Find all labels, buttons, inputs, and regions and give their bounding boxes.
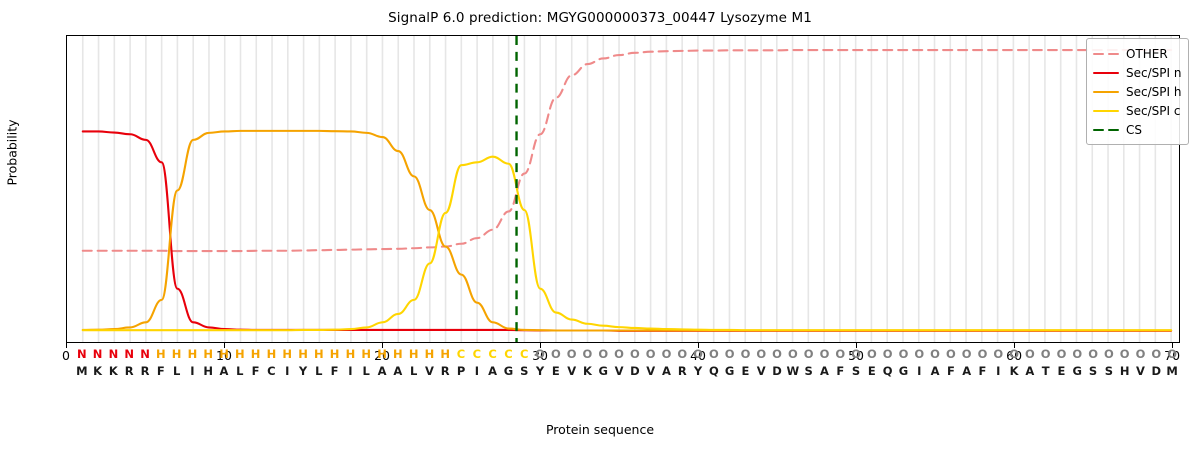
legend-swatch: [1093, 124, 1119, 136]
series-sec-spi-c: [83, 157, 1171, 330]
legend-label: Sec/SPI c: [1126, 104, 1180, 118]
legend-label: Sec/SPI h: [1126, 85, 1181, 99]
legend-label: Sec/SPI n: [1126, 66, 1181, 80]
legend-item: Sec/SPI h: [1093, 82, 1181, 101]
legend-label: CS: [1126, 123, 1142, 137]
legend-swatch: [1093, 105, 1119, 117]
legend-item: CS: [1093, 120, 1181, 139]
legend-item: Sec/SPI n: [1093, 63, 1181, 82]
signalp-prediction-figure: SignalP 6.0 prediction: MGYG000000373_00…: [0, 0, 1200, 450]
y-tick-mark: [66, 276, 67, 277]
y-tick-mark: [66, 220, 67, 221]
x-axis-label: Protein sequence: [0, 422, 1200, 437]
legend-swatch: [1093, 86, 1119, 98]
legend-item: OTHER: [1093, 44, 1181, 63]
sequence-residue: M: [1161, 364, 1183, 378]
page-title: SignalP 6.0 prediction: MGYG000000373_00…: [0, 10, 1200, 26]
series-sec-spi-n: [83, 131, 1171, 330]
y-tick-mark: [66, 163, 67, 164]
y-tick-mark: [66, 50, 67, 51]
x-tick-mark: [66, 343, 67, 348]
legend-swatch: [1093, 48, 1119, 60]
legend: OTHERSec/SPI nSec/SPI hSec/SPI cCS: [1086, 38, 1189, 145]
plot-area: [66, 35, 1180, 343]
y-axis-label: Probability: [5, 23, 20, 283]
series-other: [83, 50, 1171, 251]
y-tick-mark: [66, 107, 67, 108]
y-tick-mark: [66, 333, 67, 334]
legend-swatch: [1093, 67, 1119, 79]
data-curves: [67, 36, 1179, 342]
legend-label: OTHER: [1126, 47, 1168, 61]
region-label: O: [1161, 347, 1183, 361]
series-sec-spi-h: [83, 131, 1171, 331]
legend-item: Sec/SPI c: [1093, 101, 1181, 120]
